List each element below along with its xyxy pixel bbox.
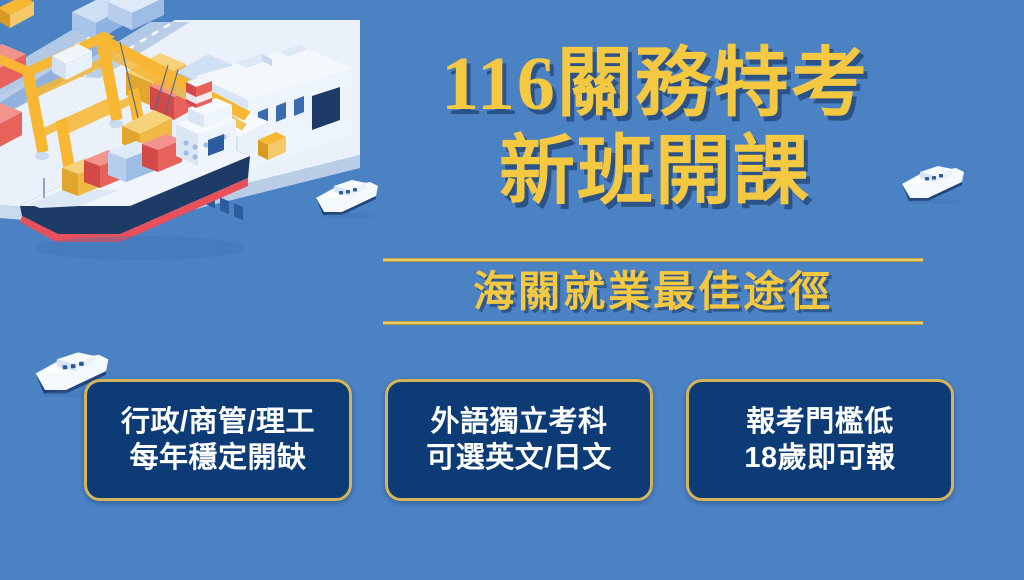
subtitle-rule-bottom [383, 321, 923, 325]
feature-box-3: 報考門檻低 18歲即可報 [686, 379, 954, 501]
dock-platform [0, 20, 360, 228]
feature-box-1-line-1: 行政/商管/理工 [121, 404, 315, 440]
feature-box-1: 行政/商管/理工 每年穩定開缺 [84, 379, 352, 501]
warehouse-building [196, 45, 352, 220]
lifted-containers [122, 110, 172, 152]
headline-line-1: 116關務特考 [370, 42, 940, 126]
promotional-banner: 116關務特考 新班開課 海關就業最佳途徑 行政/商管/理工 每年穩定開缺 外語… [0, 0, 1024, 580]
gantry-crane [0, 32, 250, 210]
headline-block: 116關務特考 新班開課 [370, 42, 940, 214]
cargo-containers-top [72, 0, 164, 40]
feature-box-3-line-1: 報考門檻低 [746, 404, 894, 440]
subtitle-block: 海關就業最佳途徑 [383, 258, 923, 325]
headline-line-2: 新班開課 [370, 130, 940, 214]
delivery-truck-top [0, 0, 34, 28]
delivery-truck-dock [218, 114, 286, 160]
cargo-containers-mid [126, 53, 232, 120]
feature-box-2-line-2: 可選英文/日文 [426, 440, 612, 476]
cargo-ship [20, 76, 250, 242]
cargo-containers-left [0, 44, 26, 152]
feature-box-group: 行政/商管/理工 每年穩定開缺 外語獨立考科 可選英文/日文 報考門檻低 18歲… [84, 379, 954, 501]
feature-box-1-line-2: 每年穩定開缺 [129, 440, 306, 476]
feature-box-2-line-1: 外語獨立考科 [430, 404, 607, 440]
feature-box-3-line-2: 18歲即可報 [744, 440, 895, 476]
subtitle-text: 海關就業最佳途徑 [383, 262, 923, 321]
port-illustration [0, 0, 360, 290]
roads [0, 22, 190, 136]
feature-box-2: 外語獨立考科 可選英文/日文 [385, 379, 653, 501]
